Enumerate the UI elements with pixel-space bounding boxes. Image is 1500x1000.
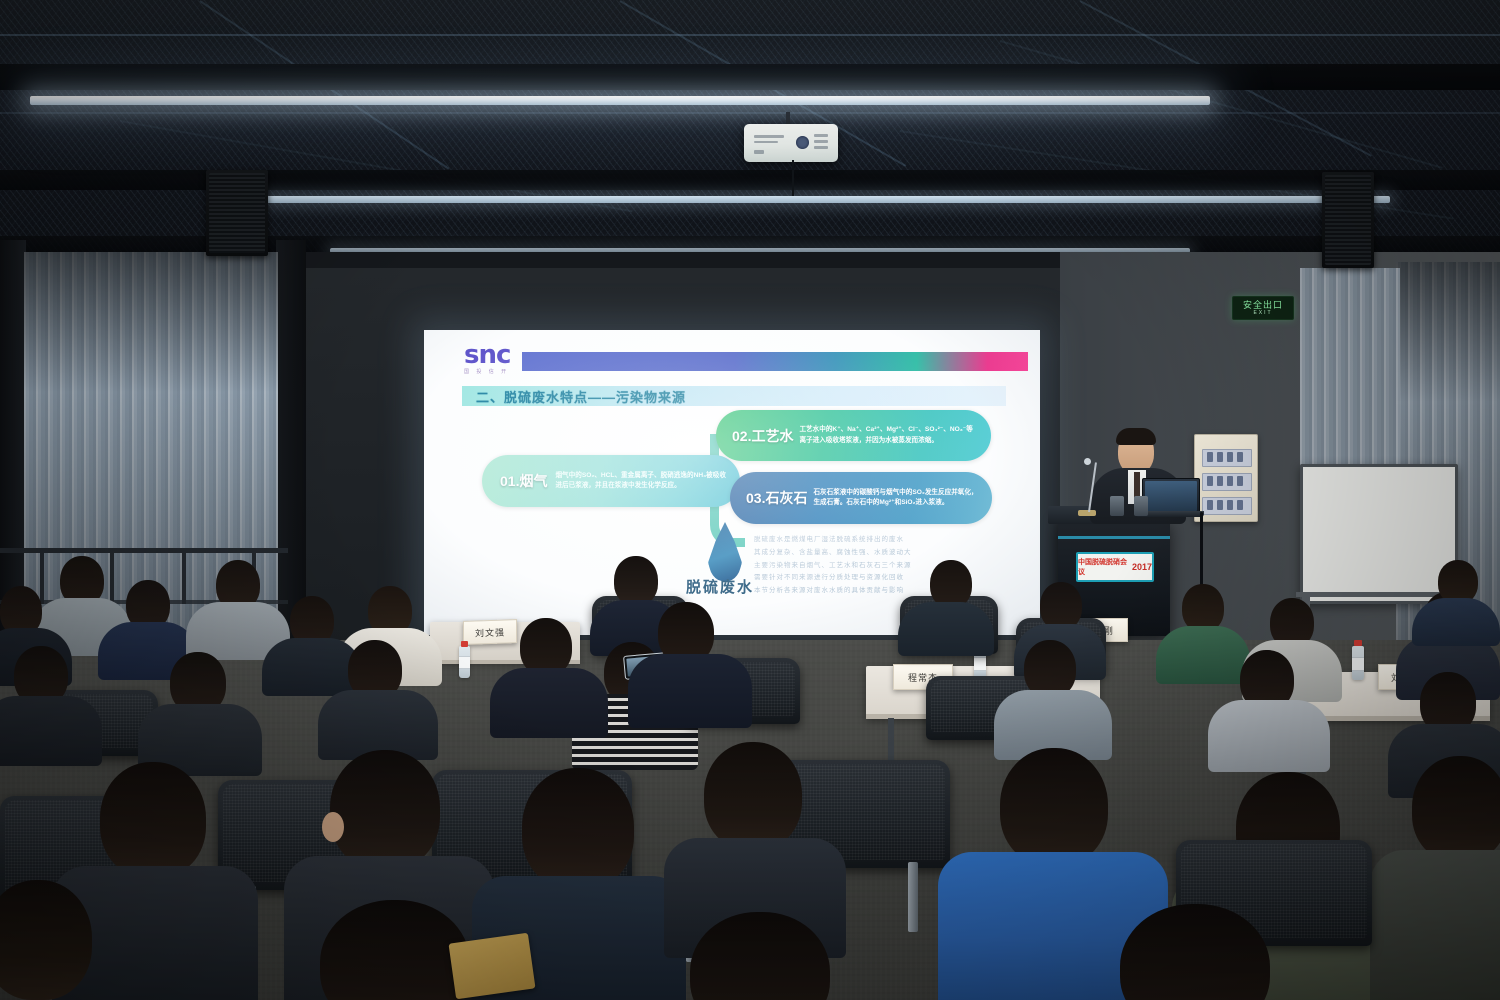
exit-sign-label-cn: 安全出口 [1243,301,1283,310]
slide-logo-mark: snc [464,344,510,367]
wall-speaker-left [206,170,268,256]
curtain-right-upper [1300,268,1400,478]
wall-speaker-right [1322,172,1374,268]
slide-top-accent-bar [522,352,1028,371]
notebook [448,933,535,1000]
slide-block-01-tag: 01.烟气 [482,471,555,491]
electrical-panel [1194,434,1258,522]
slide-block-03-desc: 石灰石浆液中的碳酸钙与烟气中的SO₂发生反应并氧化，生成石膏。石灰石中的Mg²⁺… [813,488,992,508]
water-bottle-3 [1352,646,1364,680]
podium-banner: 中国脱硫脱硝会议 2017 [1076,552,1154,582]
slide-block-01: 01.烟气 烟气中的SO₂、HCL、重金属离子、脱硝逃逸的NH₃被吸收进后已浆液… [482,455,740,507]
slide-footer-label: 脱硫废水 [686,576,754,597]
ceiling-projector [744,124,838,162]
ceiling-strip-light-2 [250,196,1390,203]
slide-body-line: 其成分复杂、含盐量高、腐蚀性强、水质波动大 [754,548,1010,558]
ceiling-strip-light-1 [30,96,1210,105]
nameplate-1-text: 刘文强 [475,625,505,639]
podium-banner-year: 2017 [1132,562,1152,572]
slide-section-title-text: 二、脱硫废水特点——污染物来源 [462,387,686,406]
exit-sign-label-en: EXIT [1253,311,1272,316]
slide-block-02-desc: 工艺水中的K⁺、Na⁺、Ca²⁺、Mg²⁺、Cl⁻、SO₄²⁻、NO₃⁻等离子进… [799,425,991,445]
whiteboard [1300,464,1458,604]
slide-block-03-tag: 03.石灰石 [730,488,813,508]
slide-logo: snc 国 投 信 开 [464,344,510,375]
slide-logo-subtitle: 国 投 信 开 [464,368,510,375]
exit-sign: 安全出口 EXIT [1232,296,1294,320]
conference-hall-photo: 安全出口 EXIT snc 国 投 信 开 二、脱硫废水特点——污染物来源 脱硫… [0,0,1500,1000]
slide-block-03: 03.石灰石 石灰石浆液中的碳酸钙与烟气中的SO₂发生反应并氧化，生成石膏。石灰… [730,472,992,524]
slide-block-02: 02.工艺水 工艺水中的K⁺、Na⁺、Ca²⁺、Mg²⁺、Cl⁻、SO₄²⁻、N… [716,410,991,461]
slide-body-line: 主要污染物来自烟气、工艺水和石灰石三个来源 [754,561,1010,571]
podium-banner-cn: 中国脱硫脱硝会议 [1078,557,1130,577]
slide-section-title: 二、脱硫废水特点——污染物来源 [462,386,1006,406]
slide-block-02-tag: 02.工艺水 [716,426,799,446]
slide-body-line: 脱硫废水是燃煤电厂湿法脱硫系统排出的废水 [754,535,1010,545]
projector-lens-icon [796,136,809,149]
slide-block-01-desc: 烟气中的SO₂、HCL、重金属离子、脱硝逃逸的NH₃被吸收进后已浆液，并且在浆液… [555,471,740,491]
water-bottle-1 [459,646,470,678]
nameplate-1: 刘文强 [463,619,517,645]
ceiling-beam-front [0,64,1500,90]
